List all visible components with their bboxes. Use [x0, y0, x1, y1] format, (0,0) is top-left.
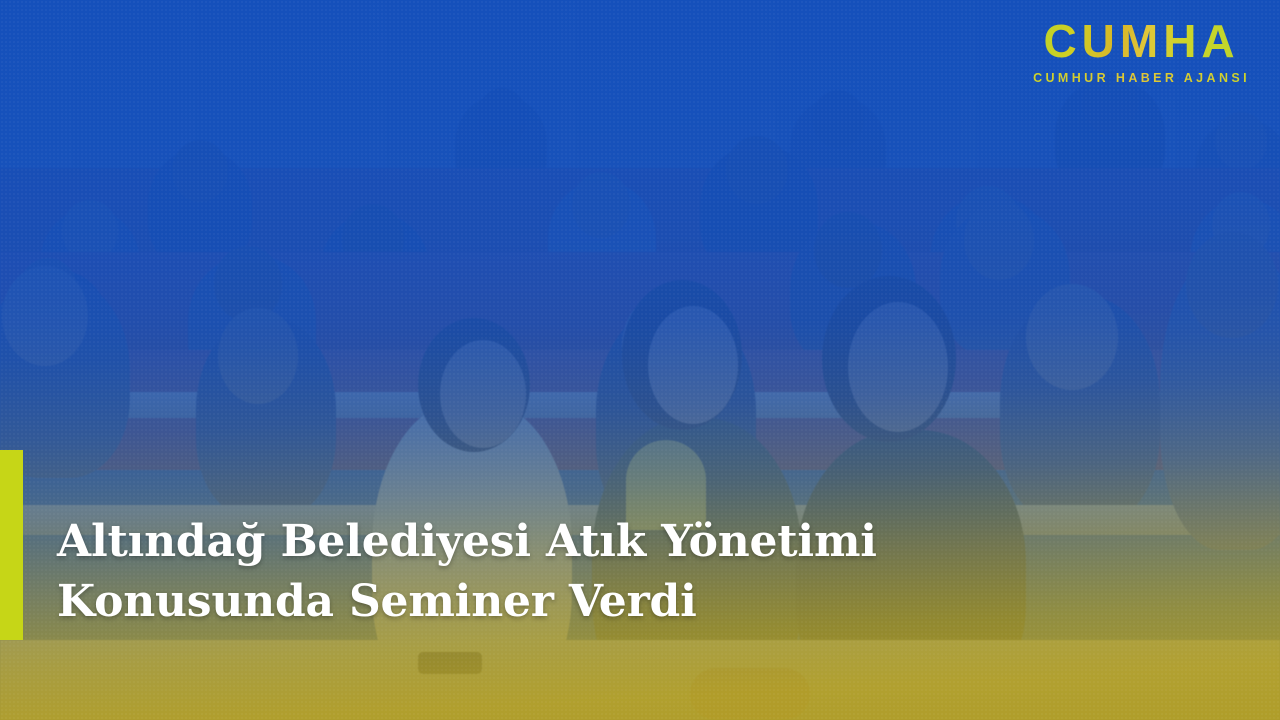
- cumha-logo[interactable]: CUMHA CUMHUR HABER AJANSI: [1033, 18, 1250, 85]
- page-title: Altındağ Belediyesi Atık Yönetimi Konusu…: [57, 512, 1057, 632]
- logo-tagline: CUMHUR HABER AJANSI: [1033, 71, 1250, 85]
- yellow-accent-bar: [0, 450, 23, 640]
- headline-line-2: Konusunda Seminer Verdi: [57, 572, 1057, 632]
- headline-line-1: Altındağ Belediyesi Atık Yönetimi: [57, 512, 1057, 572]
- logo-wordmark: CUMHA: [1033, 18, 1250, 64]
- news-card: CUMHA CUMHUR HABER AJANSI Altındağ Beled…: [0, 0, 1280, 720]
